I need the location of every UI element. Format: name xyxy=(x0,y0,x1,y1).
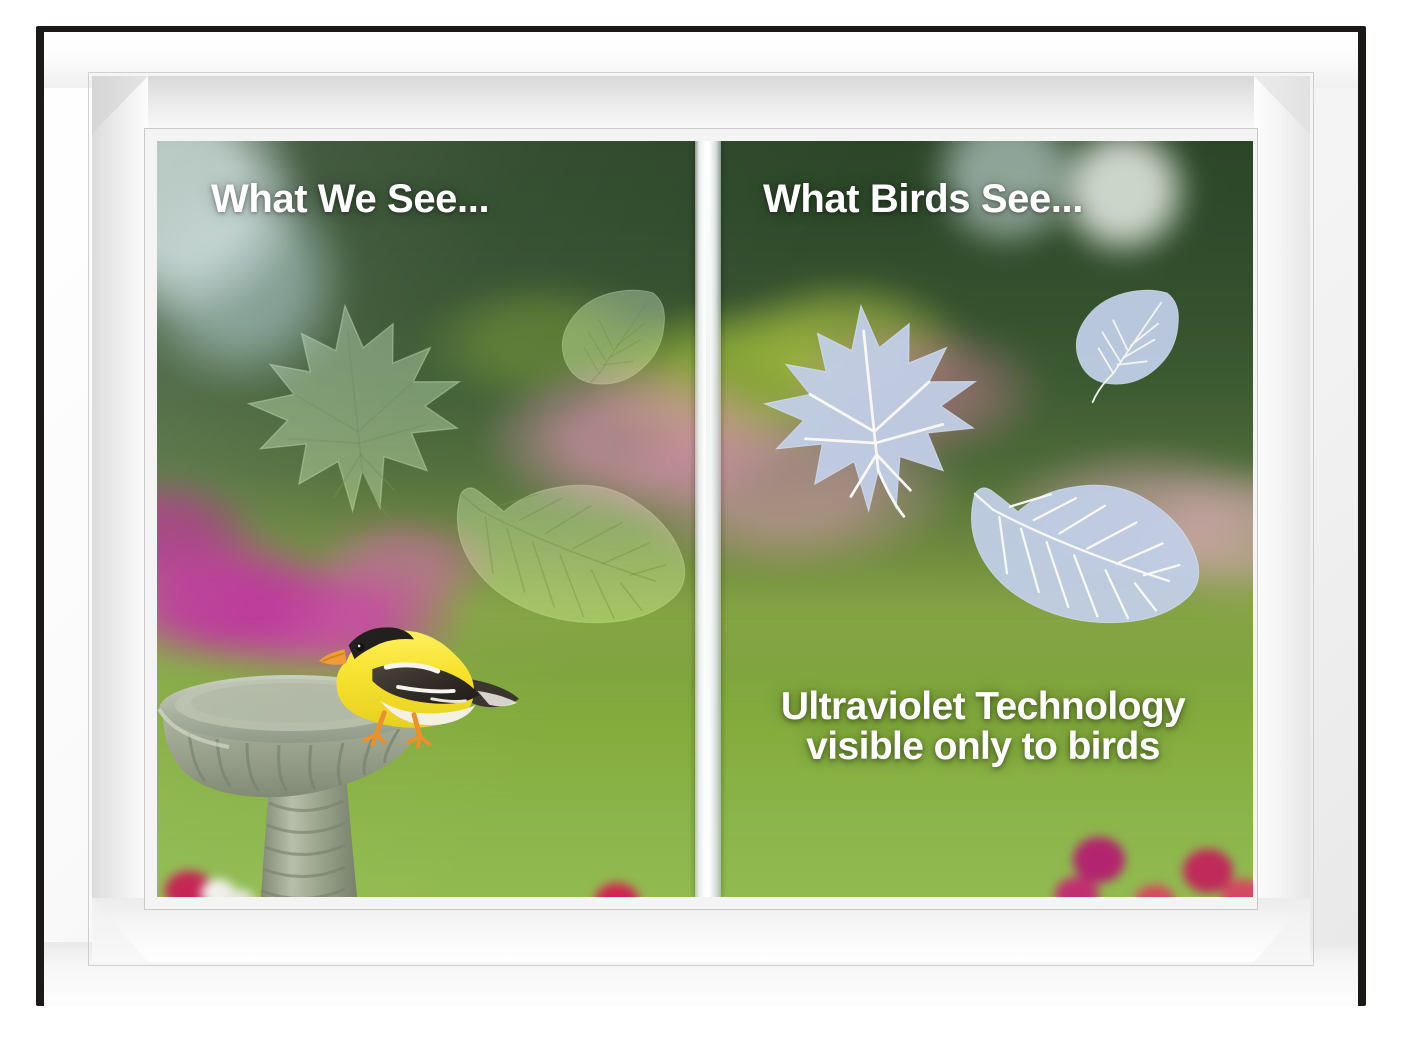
reveal-left-face xyxy=(92,76,148,962)
window-glass-opening: What We See... What Birds See... Ultravi… xyxy=(157,141,1253,897)
decal-elm-leaf-uv xyxy=(957,458,1199,654)
reveal-right-face xyxy=(1254,76,1310,962)
decal-aspen-leaf-frosted xyxy=(547,273,687,409)
uv-technology-caption: Ultraviolet Technology visible only to b… xyxy=(723,687,1243,767)
uv-caption-line-2: visible only to birds xyxy=(723,727,1243,767)
reveal-top-face xyxy=(92,76,1310,134)
flower-blossom xyxy=(1135,885,1175,897)
miter-top-left xyxy=(92,76,148,134)
left-pane-title: What We See... xyxy=(211,177,489,222)
miter-top-right xyxy=(1254,76,1310,134)
flower-blossom xyxy=(1073,837,1125,883)
miter-bottom-right xyxy=(1254,898,1310,962)
goldfinch-bird xyxy=(303,617,521,749)
miter-bottom-left xyxy=(92,898,148,962)
finch-eye xyxy=(356,643,364,651)
right-pane-title: What Birds See... xyxy=(763,177,1083,222)
uv-caption-line-1: Ultraviolet Technology xyxy=(723,687,1243,727)
decal-aspen-leaf-uv xyxy=(1061,273,1201,409)
finch-feet xyxy=(364,735,429,747)
window-center-mullion xyxy=(695,141,721,897)
poster-canvas: What We See... What Birds See... Ultravi… xyxy=(0,0,1408,1050)
flower-blossom xyxy=(595,883,639,897)
